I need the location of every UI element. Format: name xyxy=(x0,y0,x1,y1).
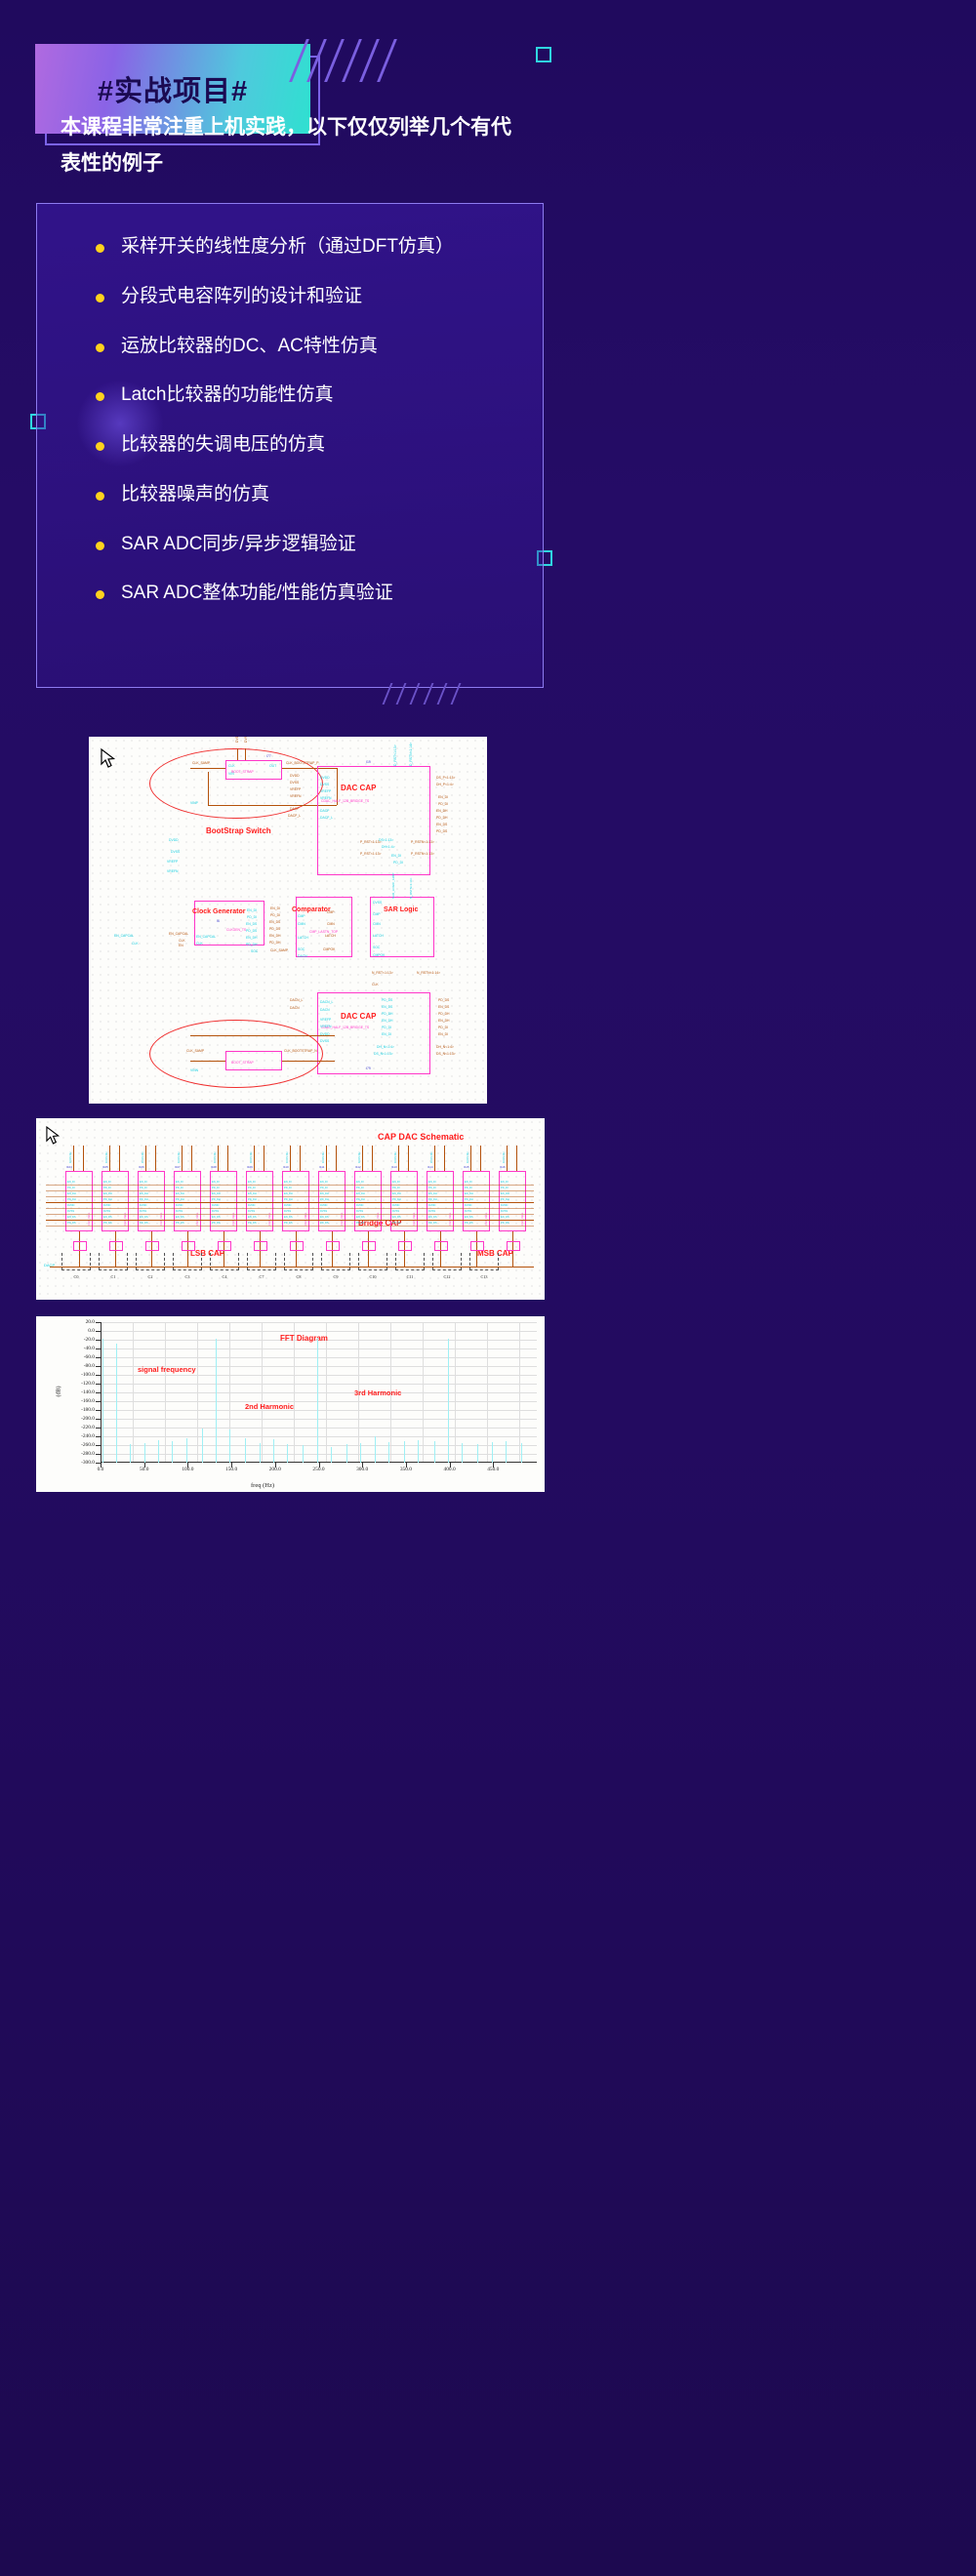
y-tick: -260.0 xyxy=(56,1442,95,1448)
instance-label: I116 xyxy=(500,1165,506,1169)
block-dac-cap-top xyxy=(317,766,430,875)
cap-top-wire xyxy=(362,1146,363,1171)
cap-bus-pin: PD_DH xyxy=(428,1198,437,1201)
x-tick-mark xyxy=(101,1463,102,1468)
cap-element xyxy=(218,1241,231,1251)
cap-bus-pin: PD_DI xyxy=(501,1187,508,1189)
cap-bus-pin: PD_DH xyxy=(176,1198,184,1201)
spectrum-line xyxy=(216,1339,217,1463)
cap-pin-labels: DI DS DH xyxy=(178,1152,181,1163)
annotation-sar-logic: SAR Logic xyxy=(384,906,418,913)
spectrum-line xyxy=(158,1440,159,1463)
cap-top-wire xyxy=(444,1146,445,1171)
cap-top-wire xyxy=(300,1146,301,1171)
cap-bus-pin: PD_DS xyxy=(140,1222,148,1225)
cap-pin-labels: DI DS DH xyxy=(394,1152,397,1163)
cap-axis-tick: C0 xyxy=(67,1274,85,1279)
cap-bus-pin: PD_DI xyxy=(140,1187,147,1189)
cap-bus-pin: PD_DH xyxy=(284,1198,293,1201)
cap-axis-tick: C9 xyxy=(327,1274,345,1279)
cap-top-wire xyxy=(109,1146,110,1171)
cap-element xyxy=(362,1241,376,1251)
spectrum-line xyxy=(229,1429,230,1463)
spectrum-line xyxy=(506,1441,507,1464)
cap-bus-pin: EN_DS xyxy=(248,1216,257,1219)
cap-bus-pin: EN_DH xyxy=(248,1192,257,1195)
cap-top-wire xyxy=(326,1146,327,1171)
cap-bus-pin: DVSS xyxy=(248,1210,255,1213)
y-tick: -240.0 xyxy=(56,1433,95,1439)
cap-top-wire xyxy=(218,1146,219,1171)
cap-bus-pin: PD_DH xyxy=(140,1198,148,1201)
cap-element xyxy=(326,1241,340,1251)
cap-bus-pin: EN_DI xyxy=(465,1181,472,1184)
cap-bus-pin: DVSS xyxy=(465,1210,471,1213)
instance-label: I115 xyxy=(464,1165,469,1169)
cap-top-wire xyxy=(182,1146,183,1171)
list-item: 分段式电容阵列的设计和验证 xyxy=(96,285,525,308)
cap-top-wire xyxy=(398,1146,399,1171)
cap-bus-pin: EN_DH xyxy=(465,1192,473,1195)
y-tick-mark xyxy=(96,1340,101,1341)
block-dac-cap-bottom xyxy=(317,992,430,1074)
instance-label: I105 xyxy=(102,1165,108,1169)
cap-group-bracket xyxy=(61,1253,91,1270)
cap-bus-pin: PD_DI xyxy=(320,1187,328,1189)
cap-top-wire xyxy=(254,1146,255,1171)
cap-bus-pin: PD_DH xyxy=(465,1198,473,1201)
spectrum-line xyxy=(172,1441,173,1464)
cap-top-wire xyxy=(145,1146,146,1171)
cap-group-bracket xyxy=(395,1253,425,1270)
cap-bus-pin: PD_DH xyxy=(392,1198,401,1201)
spectrum-line xyxy=(462,1443,463,1463)
cap-pin-labels: DI DS DH xyxy=(142,1152,144,1163)
plot-axes xyxy=(101,1322,537,1463)
list-item-label: 分段式电容阵列的设计和验证 xyxy=(121,285,362,308)
cap-axis-tick: C1 xyxy=(104,1274,122,1279)
cap-pin-labels: DI DS DH xyxy=(467,1152,469,1163)
cap-element xyxy=(254,1241,267,1251)
cap-bus-pin: DVSS xyxy=(284,1210,291,1213)
annotation-dac-cap-bottom: DAC CAP xyxy=(341,1012,376,1021)
cap-bus-pin: EN_DH xyxy=(212,1192,221,1195)
cap-bus-pin: PD_DH xyxy=(103,1198,112,1201)
spectrum-line xyxy=(418,1440,419,1463)
decor-slashes-bottom xyxy=(386,683,474,708)
cap-bus-pin: PD_DS xyxy=(465,1222,473,1225)
instance-label: I79 xyxy=(366,1067,371,1070)
y-tick-mark xyxy=(96,1392,101,1393)
net-label: CLK_SAMP xyxy=(192,761,210,765)
cap-bus-pin: DVDD xyxy=(176,1204,183,1207)
cap-element xyxy=(434,1241,448,1251)
annotation-signal-frequency: signal frequency xyxy=(138,1365,196,1374)
list-item-label: SAR ADC整体功能/性能仿真验证 xyxy=(121,582,393,605)
cap-top-wire xyxy=(73,1146,74,1171)
cap-top-wire xyxy=(372,1146,373,1171)
cap-bus-pin: EN_DI xyxy=(428,1181,436,1184)
cap-bus-pin: PD_DS xyxy=(248,1222,257,1225)
cap-element xyxy=(73,1241,87,1251)
cap-bus-pin: PD_DH xyxy=(501,1198,509,1201)
bullet-dot-icon xyxy=(96,492,104,501)
y-tick: -140.0 xyxy=(56,1389,95,1395)
cap-bus-pin: EN_DS xyxy=(140,1216,148,1219)
cap-bus-pin: DVSS xyxy=(428,1210,435,1213)
instance-label: I106 xyxy=(139,1165,144,1169)
cap-bus-pin: EN_DI xyxy=(501,1181,508,1184)
spectrum-line xyxy=(434,1441,435,1463)
bullet-dot-icon xyxy=(96,392,104,401)
cap-bus-pin: DVDD xyxy=(392,1204,399,1207)
cap-top-wire xyxy=(516,1146,517,1171)
cap-bus-pin: PD_DI xyxy=(103,1187,111,1189)
cap-element xyxy=(398,1241,412,1251)
cap-bus-pin: DVDD xyxy=(465,1204,471,1207)
list-item: 比较器的失调电压的仿真 xyxy=(96,433,525,457)
cap-bus-pin: EN_DH xyxy=(501,1192,509,1195)
annotation-3rd-harmonic: 3rd Harmonic xyxy=(354,1389,401,1397)
cap-bus-pin: EN_DH xyxy=(320,1192,329,1195)
cap-bus-pin: PD_DS xyxy=(67,1222,76,1225)
cap-bus-pin: EN_DH xyxy=(176,1192,184,1195)
cap-bus-pin: PD_DS xyxy=(320,1222,329,1225)
cap-top-wire xyxy=(408,1146,409,1171)
y-tick: -80.0 xyxy=(56,1363,95,1369)
annotation-dac-cap-top: DAC CAP xyxy=(341,784,376,792)
cap-bus-pin: DVDD xyxy=(428,1204,435,1207)
cap-bus-pin: EN_DS xyxy=(428,1216,437,1219)
cap-bus-pin: DVSS xyxy=(103,1210,110,1213)
annotation-2nd-harmonic: 2nd Harmonic xyxy=(245,1402,294,1411)
cap-bus-pin: DVDD xyxy=(356,1204,363,1207)
cap-bus-pin: EN_DS xyxy=(176,1216,184,1219)
cap-bus-pin: EN_DS xyxy=(465,1216,473,1219)
cap-bus-pin: PD_DI xyxy=(392,1187,400,1189)
cap-group-bracket xyxy=(284,1253,313,1270)
y-tick-mark xyxy=(96,1357,101,1358)
y-tick: -280.0 xyxy=(56,1451,95,1457)
cap-top-wire xyxy=(119,1146,120,1171)
cap-bus-pin: EN_DH xyxy=(284,1192,293,1195)
instance-label: I77 xyxy=(266,754,271,758)
cap-element xyxy=(470,1241,484,1251)
instance-label: I113 xyxy=(391,1165,397,1169)
x-tick-mark xyxy=(406,1463,407,1468)
cap-bus-pin: DVSS xyxy=(212,1210,219,1213)
cap-element xyxy=(182,1241,195,1251)
cap-bus-pin: PD_DS xyxy=(428,1222,437,1225)
cap-element xyxy=(507,1241,520,1251)
spectrum-line xyxy=(144,1443,145,1463)
cap-group-bracket xyxy=(210,1253,239,1270)
cap-top-wire xyxy=(155,1146,156,1171)
cap-element xyxy=(290,1241,304,1251)
cap-pin-labels: DI DS DH xyxy=(430,1152,433,1163)
cap-bus-pin: DVDD xyxy=(501,1204,508,1207)
list-item-label: SAR ADC同步/异步逻辑验证 xyxy=(121,533,356,556)
cap-bus-pin: DVDD xyxy=(320,1204,327,1207)
cell-name-label: BOOT_STRAP xyxy=(231,1061,254,1065)
spectrum-line xyxy=(273,1439,274,1463)
cap-group-bracket xyxy=(173,1253,202,1270)
list-item-label: 运放比较器的DC、AC特性仿真 xyxy=(121,335,378,358)
decor-square-top-right xyxy=(536,47,551,62)
cap-axis-tick: C7 xyxy=(253,1274,270,1279)
spectrum-line xyxy=(492,1442,493,1463)
cap-bus-pin: EN_DH xyxy=(356,1192,365,1195)
cap-axis-tick: C10 xyxy=(364,1274,382,1279)
intro-paragraph: 本课程非常注重上机实践，以下仅仅列举几个有代表性的例子 xyxy=(61,110,519,182)
decor-slashes-top xyxy=(298,39,405,88)
cap-axis-tick: C12 xyxy=(438,1274,456,1279)
y-tick-mark xyxy=(96,1348,101,1349)
cap-bus-pin: PD_DI xyxy=(212,1187,220,1189)
bullet-dot-icon xyxy=(96,294,104,302)
figure-sar-adc-top-schematic: I77 BOOT_STRAP CLK VIN OUT CLK_SAMP CLK_… xyxy=(89,737,487,1104)
list-item: 运放比较器的DC、AC特性仿真 xyxy=(96,335,525,358)
list-item-label: 比较器噪声的仿真 xyxy=(121,483,269,506)
cap-pin-labels: DI DS DH xyxy=(214,1152,217,1163)
instance-label: I108 xyxy=(211,1165,217,1169)
cap-axis-tick: C13 xyxy=(475,1274,493,1279)
figure-fft-diagram: (dB) freq (Hz) FFT Diagram signal freque… xyxy=(36,1316,545,1492)
x-tick-mark xyxy=(319,1463,320,1468)
y-tick-mark xyxy=(96,1401,101,1402)
cap-bus-pin: PD_DI xyxy=(248,1187,256,1189)
bullet-dot-icon xyxy=(96,542,104,550)
y-tick-mark xyxy=(96,1375,101,1376)
y-tick: -160.0 xyxy=(56,1398,95,1404)
cap-bus-pin: DVDD xyxy=(248,1204,255,1207)
cap-bus-pin: PD_DI xyxy=(465,1187,472,1189)
cap-axis-tick: C11 xyxy=(401,1274,419,1279)
instance-label: I109 xyxy=(247,1165,253,1169)
cap-bus-pin: EN_DS xyxy=(392,1216,401,1219)
cap-bus-pin: EN_DS xyxy=(67,1216,76,1219)
instance-label: I19 xyxy=(366,760,371,764)
y-tick: -300.0 xyxy=(56,1460,95,1466)
cap-bus-pin: DVDD xyxy=(103,1204,110,1207)
y-tick: -180.0 xyxy=(56,1407,95,1413)
spectrum-line xyxy=(260,1443,261,1463)
cap-pin-labels: DI DS DH xyxy=(250,1152,253,1163)
instance-label: I104 xyxy=(66,1165,72,1169)
x-tick-mark xyxy=(144,1463,145,1468)
y-tick: -20.0 xyxy=(56,1337,95,1343)
badge-label: #实战项目# xyxy=(98,68,248,109)
cap-bus-pin: DVDD xyxy=(140,1204,146,1207)
cap-bus-pin: EN_DI xyxy=(140,1181,147,1184)
cap-bus-pin: DVDD xyxy=(67,1204,74,1207)
cap-bus-pin: DVDD xyxy=(284,1204,291,1207)
cap-bus-pin: EN_DH xyxy=(103,1192,112,1195)
cap-bus-pin: EN_DH xyxy=(140,1192,148,1195)
cap-bus-pin: PD_DI xyxy=(356,1187,364,1189)
cap-bus-pin: PD_DI xyxy=(428,1187,436,1189)
spectrum-line xyxy=(521,1443,522,1463)
spectrum-line xyxy=(331,1447,332,1463)
spectrum-line xyxy=(375,1436,376,1463)
cap-pin-labels: DI DS DH xyxy=(322,1152,325,1163)
spectrum-line xyxy=(116,1344,117,1463)
cap-top-wire xyxy=(470,1146,471,1171)
instance-label: I107 xyxy=(175,1165,181,1169)
cap-bus-pin: EN_DI xyxy=(248,1181,256,1184)
cap-bus-pin: PD_DI xyxy=(284,1187,292,1189)
cap-group-bracket xyxy=(358,1253,387,1270)
bullet-dot-icon xyxy=(96,442,104,451)
cap-top-wire xyxy=(480,1146,481,1171)
cap-top-wire xyxy=(290,1146,291,1171)
instance-label: I110 xyxy=(283,1165,289,1169)
list-item-label: 比较器的失调电压的仿真 xyxy=(121,433,325,457)
x-tick-mark xyxy=(231,1463,232,1468)
cap-element xyxy=(145,1241,159,1251)
cap-bus-pin: EN_DI xyxy=(392,1181,400,1184)
figure-cap-dac-schematic: CAP DAC Schematic Bridge CAP LSB CAP MSB… xyxy=(36,1118,545,1300)
cap-top-wire xyxy=(336,1146,337,1171)
cap-bus-pin: EN_DH xyxy=(67,1192,76,1195)
spectrum-line xyxy=(245,1438,246,1463)
cap-bus-pin: PD_DH xyxy=(356,1198,365,1201)
list-item: SAR ADC整体功能/性能仿真验证 xyxy=(96,582,525,605)
y-tick-mark xyxy=(96,1428,101,1429)
y-tick-mark xyxy=(96,1419,101,1420)
cap-bus-pin: PD_DI xyxy=(67,1187,75,1189)
cap-bus-pin: EN_DH xyxy=(392,1192,401,1195)
cap-element xyxy=(109,1241,123,1251)
spectrum-line xyxy=(477,1444,478,1463)
cap-bus-pin: EN_DI xyxy=(356,1181,364,1184)
cap-bus-pin: EN_DH xyxy=(428,1192,437,1195)
cap-pin-labels: DI DS DH xyxy=(69,1152,72,1163)
cap-axis-tick: C3 xyxy=(179,1274,196,1279)
cell-name-label: CLKGEN_TS xyxy=(226,928,246,932)
list-item-label: 采样开关的线性度分析（通过DFT仿真） xyxy=(121,235,454,259)
cap-bus-pin: EN_DS xyxy=(103,1216,112,1219)
cap-bus-pin: EN_DS xyxy=(356,1216,365,1219)
y-tick-mark xyxy=(96,1366,101,1367)
spectrum-line xyxy=(346,1444,347,1463)
cap-bus-pin: DVSS xyxy=(392,1210,399,1213)
bullet-dot-icon xyxy=(96,590,104,599)
y-tick: -40.0 xyxy=(56,1346,95,1351)
x-axis-label: freq (Hz) xyxy=(251,1482,274,1489)
annotation-comparator: Comparator xyxy=(292,906,331,913)
cap-top-wire xyxy=(434,1146,435,1171)
cap-bus-pin: PD_DS xyxy=(501,1222,509,1225)
cap-bus-pin: EN_DI xyxy=(103,1181,111,1184)
cap-bus-pin: PD_DI xyxy=(176,1187,183,1189)
cap-bus-pin: EN_DS xyxy=(320,1216,329,1219)
highlights-list: 采样开关的线性度分析（通过DFT仿真） 分段式电容阵列的设计和验证 运放比较器的… xyxy=(96,235,525,631)
cap-top-wire xyxy=(507,1146,508,1171)
cap-bus-pin: DVSS xyxy=(356,1210,363,1213)
cap-bus-pin: DVSS xyxy=(140,1210,146,1213)
cap-bus-pin: PD_DH xyxy=(212,1198,221,1201)
cap-axis-tick: C4 xyxy=(216,1274,233,1279)
y-tick-mark xyxy=(96,1322,101,1323)
instance-label: I114 xyxy=(427,1165,433,1169)
list-item: SAR ADC同步/异步逻辑验证 xyxy=(96,533,525,556)
annotation-fft-title: FFT Diagram xyxy=(280,1334,328,1343)
spectrum-line xyxy=(360,1443,361,1463)
cap-bus-pin: PD_DS xyxy=(212,1222,221,1225)
x-tick-mark xyxy=(362,1463,363,1468)
cap-group-bracket xyxy=(432,1253,462,1270)
annotation-bootstrap-switch: BootStrap Switch xyxy=(206,826,271,835)
cap-bus-pin: EN_DI xyxy=(176,1181,183,1184)
cap-bus-pin: PD_DS xyxy=(356,1222,365,1225)
cap-axis-tick: C2 xyxy=(142,1274,159,1279)
spectrum-line xyxy=(102,1339,103,1463)
y-tick-mark xyxy=(96,1454,101,1455)
x-tick-mark xyxy=(187,1463,188,1468)
x-tick-mark xyxy=(493,1463,494,1468)
cap-bus-pin: PD_DH xyxy=(320,1198,329,1201)
cap-bus-pin: EN_DI xyxy=(284,1181,292,1184)
cap-top-wire xyxy=(83,1146,84,1171)
y-tick: -200.0 xyxy=(56,1416,95,1422)
list-item-label: Latch比较器的功能性仿真 xyxy=(121,383,333,407)
x-tick-mark xyxy=(275,1463,276,1468)
spectrum-line xyxy=(388,1442,389,1463)
cap-pin-labels: DI DS DH xyxy=(286,1152,289,1163)
cap-top-wire xyxy=(264,1146,264,1171)
net-label-dacp: DACP xyxy=(44,1263,55,1268)
instance-label: I111 xyxy=(319,1165,324,1169)
bullet-dot-icon xyxy=(96,244,104,253)
y-tick: -100.0 xyxy=(56,1372,95,1378)
annotation-clock-generator: Clock Generator xyxy=(192,908,245,915)
y-tick: -60.0 xyxy=(56,1354,95,1360)
cap-axis-tick: C8 xyxy=(290,1274,307,1279)
cap-bus-pin: PD_DS xyxy=(284,1222,293,1225)
y-tick-mark xyxy=(96,1436,101,1437)
cap-bus-pin: DVDD xyxy=(212,1204,219,1207)
cap-bus-pin: EN_DS xyxy=(501,1216,509,1219)
y-tick: 20.0 xyxy=(56,1319,95,1325)
cap-bus-pin: PD_DS xyxy=(103,1222,112,1225)
cap-bus-pin: DVSS xyxy=(67,1210,74,1213)
y-tick-mark xyxy=(96,1384,101,1385)
cap-pin-labels: DI DS DH xyxy=(358,1152,361,1163)
cap-top-wire xyxy=(227,1146,228,1171)
spectrum-line xyxy=(287,1444,288,1463)
cell-name-label: BOOT_STRAP xyxy=(231,770,254,774)
bullet-dot-icon xyxy=(96,343,104,352)
highlights-panel: 采样开关的线性度分析（通过DFT仿真） 分段式电容阵列的设计和验证 运放比较器的… xyxy=(36,203,544,688)
spectrum-line xyxy=(186,1438,187,1463)
title-cap-dac-schematic: CAP DAC Schematic xyxy=(378,1132,464,1142)
cap-pin-labels: DI DS DH xyxy=(105,1152,108,1163)
y-tick: -220.0 xyxy=(56,1425,95,1430)
cap-bus-pin: PD_DS xyxy=(176,1222,184,1225)
cap-group-bracket xyxy=(321,1253,350,1270)
cap-bus-pin: DVSS xyxy=(176,1210,183,1213)
cap-bus-pin: PD_DS xyxy=(392,1222,401,1225)
cap-bus-pin: EN_DI xyxy=(212,1181,220,1184)
cap-group-bracket xyxy=(136,1253,165,1270)
cap-bus-pin: EN_DS xyxy=(212,1216,221,1219)
y-tick-mark xyxy=(96,1410,101,1411)
spectrum-line xyxy=(404,1441,405,1464)
y-tick: 0.0 xyxy=(56,1328,95,1334)
cap-group-bracket xyxy=(247,1253,276,1270)
cap-bus-pin: EN_DI xyxy=(67,1181,75,1184)
